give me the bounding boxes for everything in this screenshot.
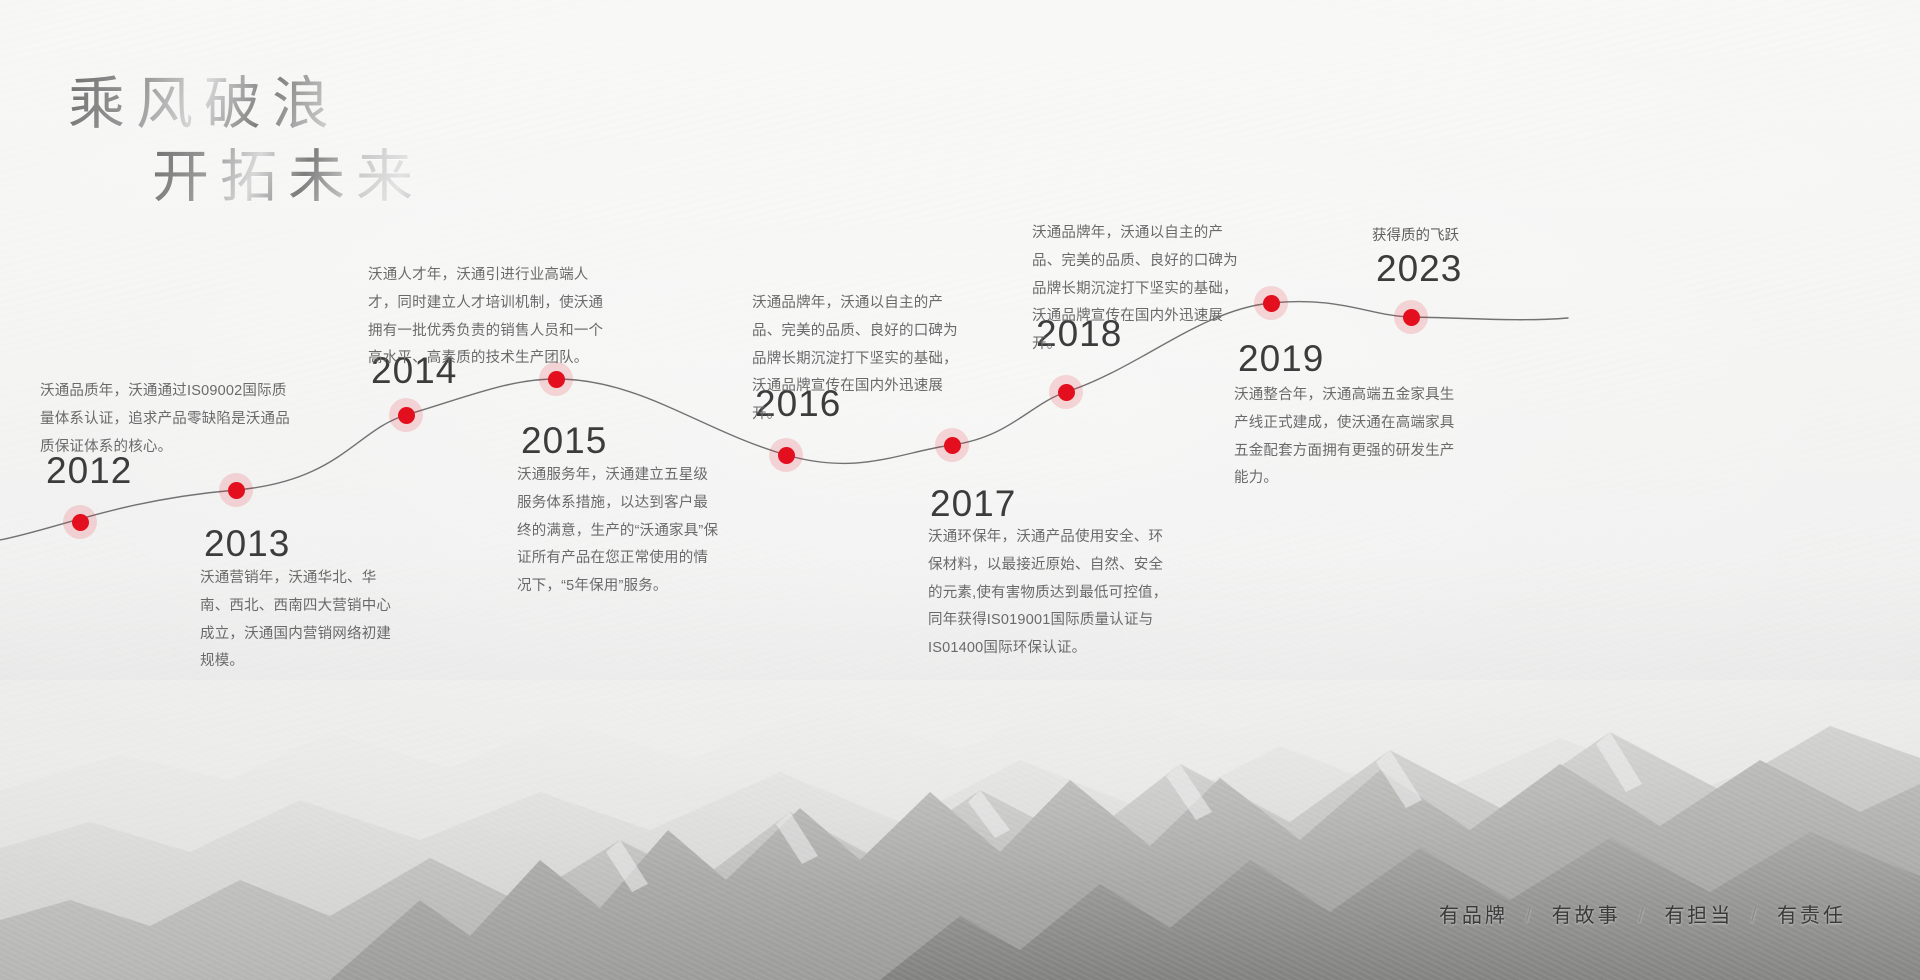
timeline-dot-core-icon xyxy=(1403,309,1420,326)
timeline-dot-core-icon xyxy=(228,482,245,499)
timeline-description-2019: 沃通整合年，沃通高端五金家具生产线正式建成，使沃通在高端家具五金配套方面拥有更强… xyxy=(1234,382,1464,493)
tagline-separator-0: / xyxy=(1526,905,1535,927)
timeline-dot-2017[interactable] xyxy=(935,428,969,462)
timeline-description-2016: 沃通品牌年，沃通以自主的产品、完美的品质、良好的口碑为品牌长期沉淀打下坚实的基础… xyxy=(752,290,967,429)
timeline-dot-core-icon xyxy=(1263,295,1280,312)
timeline-description-2023: 获得质的飞跃 xyxy=(1372,225,1522,248)
timeline-year-2017: 2017 xyxy=(930,485,1016,522)
timeline-dot-2013[interactable] xyxy=(219,473,253,507)
timeline-dot-core-icon xyxy=(778,447,795,464)
timeline-description-2017: 沃通环保年，沃通产品使用安全、环保材料，以最接近原始、自然、安全的元素,使有害物… xyxy=(928,524,1173,663)
timeline-dot-core-icon xyxy=(1058,384,1075,401)
tagline-separator-1: / xyxy=(1638,905,1647,927)
page-title: 乘风破浪 开拓未来 xyxy=(68,68,424,214)
timeline-dot-2019[interactable] xyxy=(1254,286,1288,320)
timeline-dot-2023[interactable] xyxy=(1394,300,1428,334)
timeline-dot-core-icon xyxy=(72,514,89,531)
timeline-dot-2014[interactable] xyxy=(389,398,423,432)
timeline-dot-2016[interactable] xyxy=(769,438,803,472)
timeline-description-2012: 沃通品质年，沃通通过IS09002国际质量体系认证，追求产品零缺陷是沃通品质保证… xyxy=(40,378,298,461)
timeline-year-2015: 2015 xyxy=(521,422,607,459)
timeline-dot-core-icon xyxy=(944,437,961,454)
title-line-1: 乘风破浪 xyxy=(68,68,424,141)
tagline-item-2: 有担当 xyxy=(1664,905,1733,927)
timeline-year-2013: 2013 xyxy=(204,525,290,562)
timeline-description-2013: 沃通营销年，沃通华北、华南、西北、西南四大营销中心成立，沃通国内营销网络初建规模… xyxy=(200,565,405,676)
timeline-description-2015: 沃通服务年，沃通建立五星级服务体系措施，以达到客户最终的满意，生产的“沃通家具”… xyxy=(517,462,722,601)
tagline-item-0: 有品牌 xyxy=(1439,905,1508,927)
timeline-year-2019: 2019 xyxy=(1238,340,1324,377)
footer-tagline: 有品牌 / 有故事 / 有担当 / 有责任 xyxy=(1437,899,1848,928)
timeline-description-2014: 沃通人才年，沃通引进行业高端人才，同时建立人才培训机制，使沃通拥有一批优秀负责的… xyxy=(368,262,616,373)
timeline-dot-2018[interactable] xyxy=(1049,375,1083,409)
timeline-description-2018: 沃通品牌年，沃通以自主的产品、完美的品质、良好的口碑为品牌长期沉淀打下坚实的基础… xyxy=(1032,220,1247,359)
tagline-item-1: 有故事 xyxy=(1552,905,1621,927)
tagline-item-3: 有责任 xyxy=(1777,905,1846,927)
timeline-dot-core-icon xyxy=(398,407,415,424)
title-line-2: 开拓未来 xyxy=(152,141,424,214)
timeline-dot-2012[interactable] xyxy=(63,505,97,539)
tagline-separator-2: / xyxy=(1751,905,1760,927)
timeline-year-2023: 2023 xyxy=(1376,250,1462,287)
infographic-canvas: 乘风破浪 开拓未来 2012沃通品质年，沃通通过IS09002国际质量体系认证，… xyxy=(0,0,1920,980)
